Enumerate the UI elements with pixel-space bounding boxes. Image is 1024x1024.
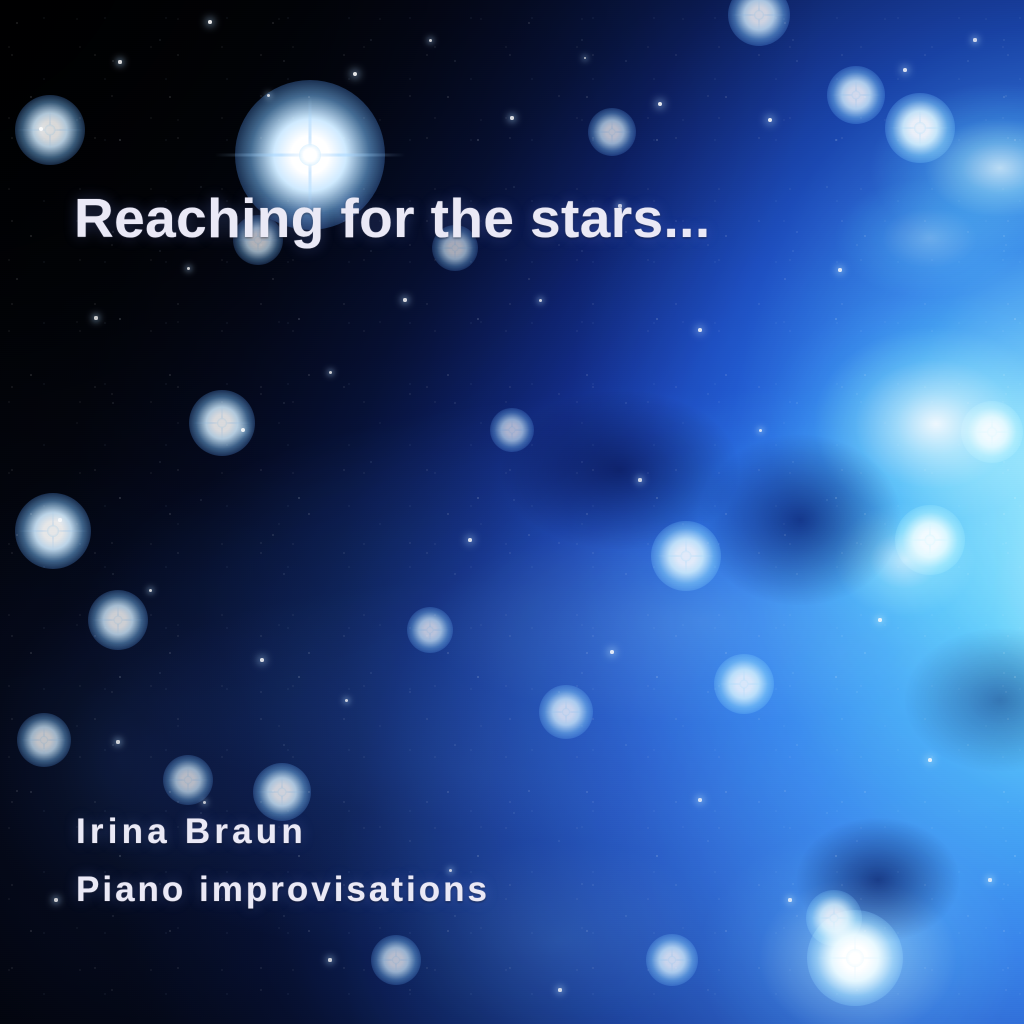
album-subtitle: Piano improvisations xyxy=(76,872,490,907)
album-cover-artwork: Reaching for the stars... Irina Braun Pi… xyxy=(0,0,1024,1024)
artist-name: Irina Braun xyxy=(76,814,307,849)
cover-text-layer: Reaching for the stars... Irina Braun Pi… xyxy=(0,0,1024,1024)
album-title: Reaching for the stars... xyxy=(74,191,711,246)
